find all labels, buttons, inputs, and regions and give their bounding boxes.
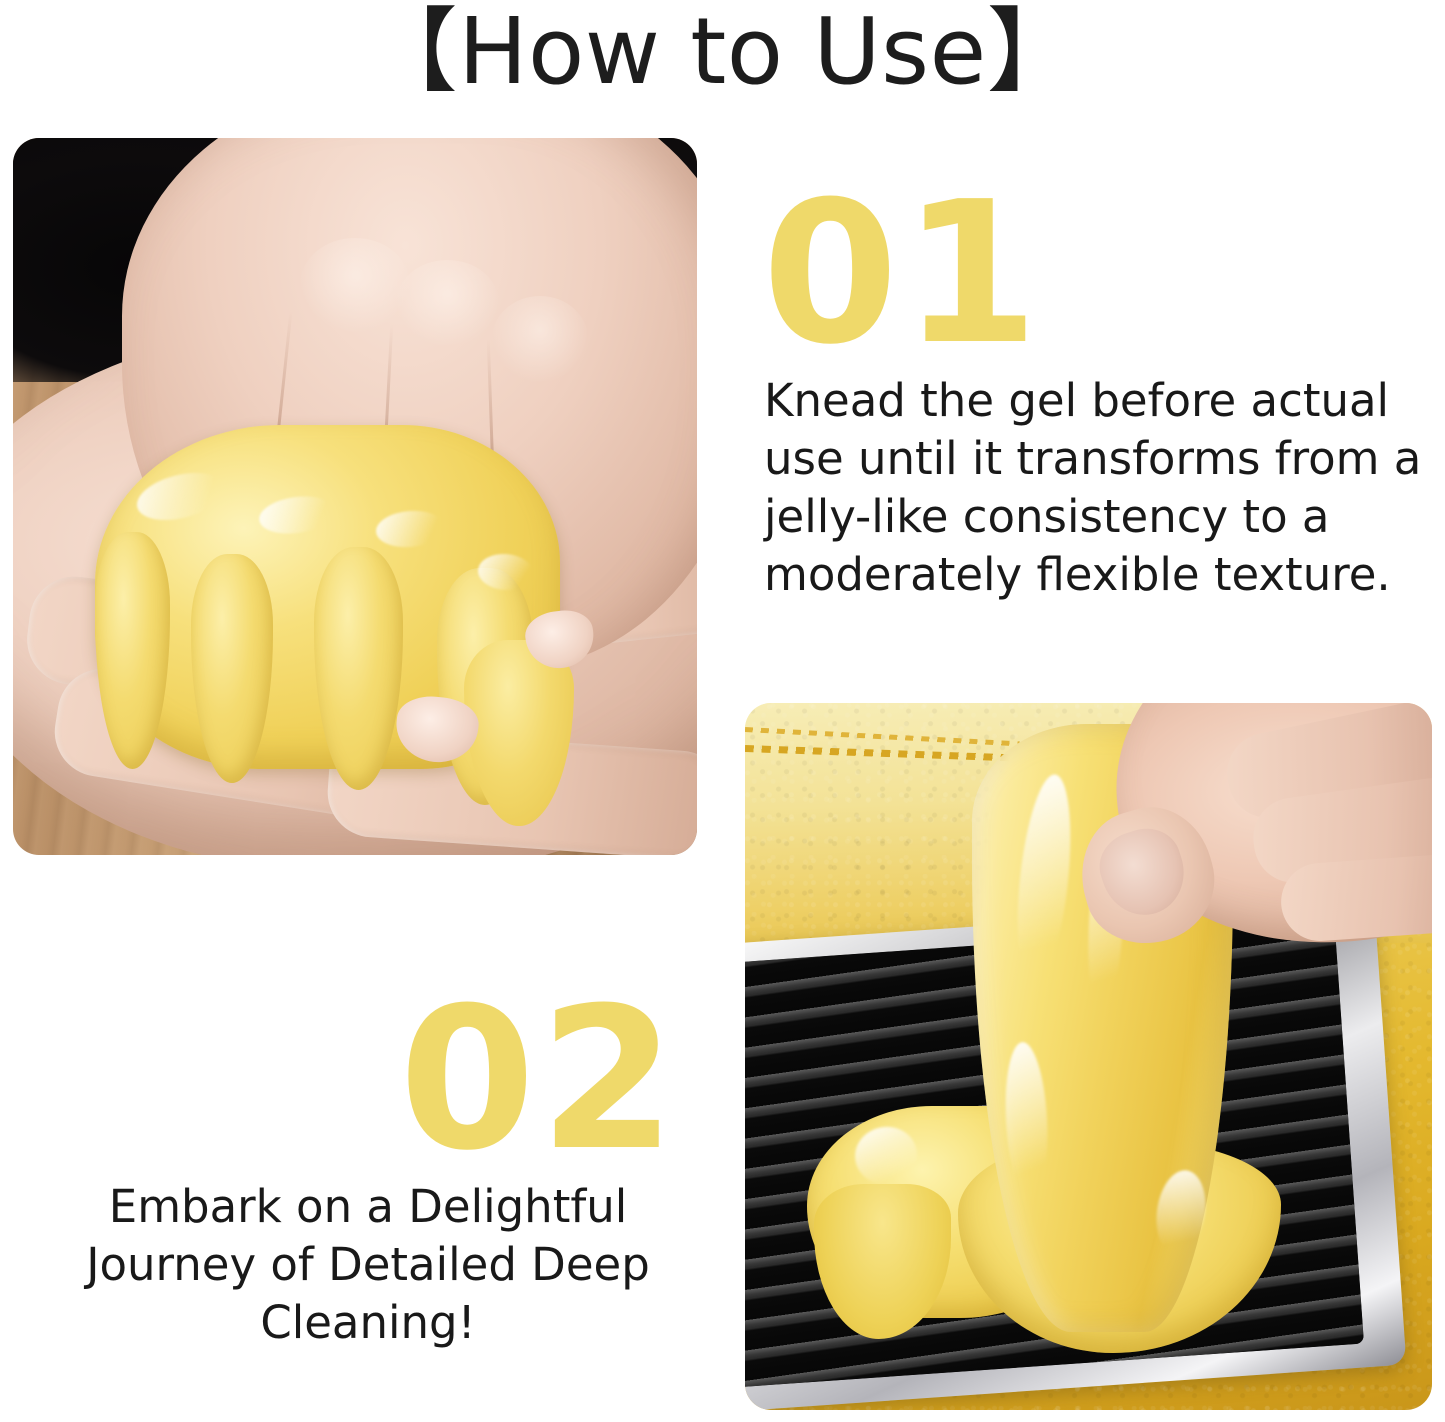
page-title: 【How to Use】 xyxy=(0,2,1445,102)
knuckle-2 xyxy=(396,260,499,346)
step-02-number: 02 xyxy=(399,982,680,1178)
step-02-description: Embark on a Delightful Journey of Detail… xyxy=(52,1178,684,1352)
photo-hands-kneading-gel xyxy=(13,138,697,855)
step-01-number: 01 xyxy=(762,176,1043,372)
knuckle-1 xyxy=(300,238,409,331)
knuckle-3 xyxy=(492,296,588,382)
step-01-description: Knead the gel before actual use until it… xyxy=(764,372,1436,604)
photo-car-vent-cleaning xyxy=(745,703,1432,1410)
infographic-page: 【How to Use】 01 Knead the gel before ac xyxy=(0,0,1445,1422)
